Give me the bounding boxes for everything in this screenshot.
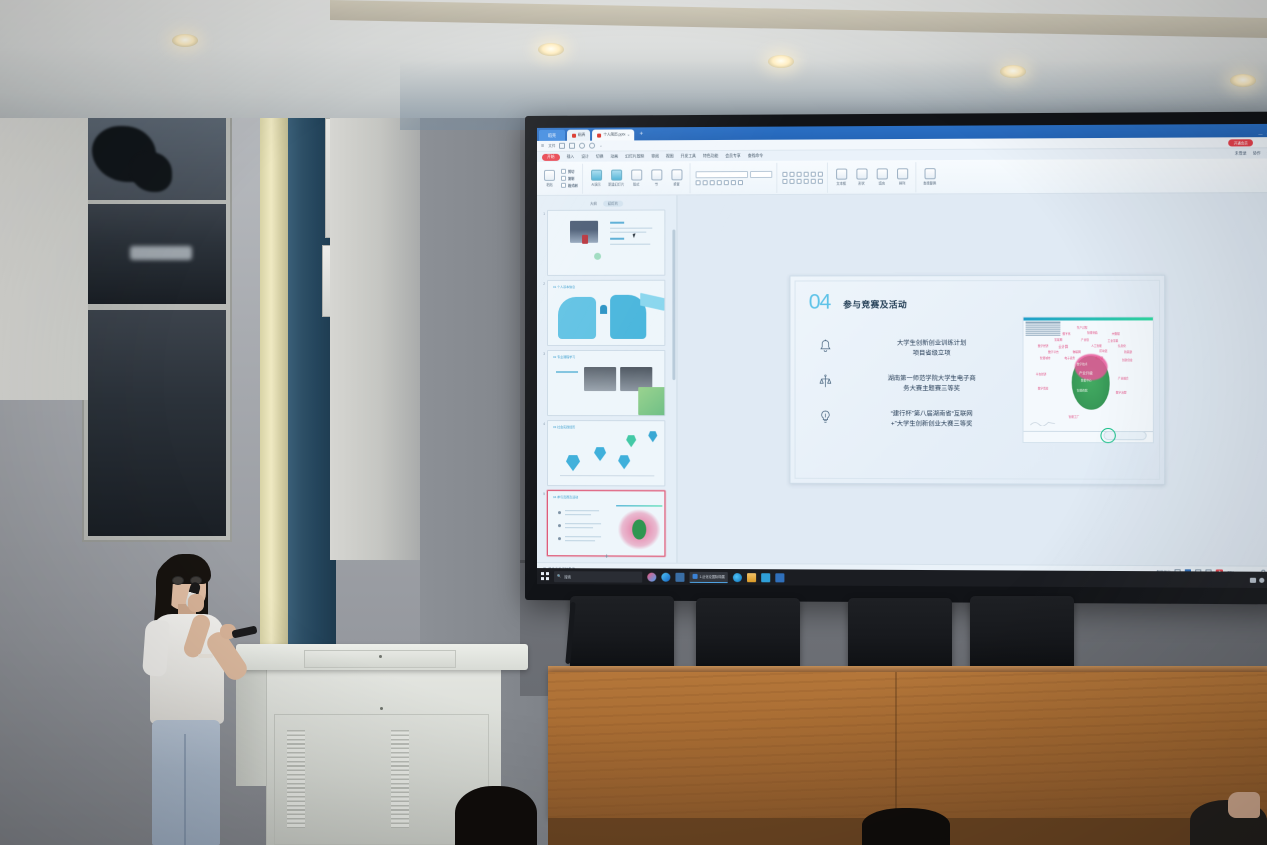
tab-label: 个人简历.pptx [603,132,625,137]
format-brush-icon [561,183,566,188]
button-label: 文本框 [836,181,846,186]
numbered-list-icon[interactable] [789,171,794,176]
slide-thumbnail-panel[interactable]: 大纲 幻灯片 1 [537,195,677,562]
chevron-down-icon[interactable]: ⌄ [600,144,603,148]
shape-button[interactable]: 形状 [853,168,870,185]
button-label: 查找替换 [923,180,936,185]
wordcloud-word: 数字治理 [1116,390,1127,394]
add-slide-button[interactable]: + [537,553,676,561]
wordcloud-image[interactable]: 生产过程 数字化 智能制造 大数据 互联网 产业链 工业互联 数字经济 云计算 … [1023,316,1154,443]
ribbon-right-controls: 未登录 协作 分享 [1235,151,1267,156]
paragraph-controls [782,171,823,183]
thumbnail-row[interactable]: 3 02 专业课程学习 [537,348,676,418]
wall-display: 稻壳 稻壳 个人简历.pptx × + — ▫ ✕ [525,112,1267,605]
conference-chair [570,596,674,668]
button-label: 形状 [858,181,864,186]
arrange-button[interactable]: 排列 [894,168,911,185]
slide-canvas-area: 04 参与竞赛及活动 大 [677,193,1267,566]
ppt-file-icon [572,133,576,137]
ribbon-tab-start[interactable]: 开始 [542,153,560,160]
map-pin-icon [566,455,580,471]
thumb-title: 04 参与竞赛及活动 [553,495,578,499]
ceiling-light [1230,74,1256,87]
map-pin-icon [594,447,606,461]
slide-thumbnail-3[interactable]: 02 专业课程学习 [547,350,665,416]
windows-taskbar: 🔍 搜索 1.近化论国际特展 [537,568,1267,588]
ai-slide-button[interactable]: AI演示 [588,170,605,187]
thumbnail-number: 1 [540,210,545,216]
ceiling-light [768,55,794,68]
new-slide-icon [611,170,622,181]
wordcloud-word: 云计算 [1058,343,1068,348]
align-row [782,178,823,183]
ribbon-tab-developer[interactable]: 开发工具 [681,154,696,159]
head-shape-left [558,297,596,339]
wordcloud-word: 数字贸易 [1038,386,1049,390]
wordcloud-word: 新基建 [1124,349,1132,353]
edge-icon[interactable] [733,573,742,582]
find-replace-button[interactable]: 查找替换 [921,168,938,185]
slide-thumbnail-5-selected[interactable]: 04 参与竞赛及活动 [547,490,665,557]
find-replace-icon [924,168,935,179]
tab-label: 稻壳 [578,133,585,138]
bullet-line: 务大赛主题赛三等奖 [841,384,1022,394]
conference-chair [696,598,800,670]
ribbon-group-editing: 查找替换 [921,162,942,192]
ceiling-light [172,34,198,47]
textbox-button[interactable]: 文本框 [833,169,850,186]
bullet-text: 大学生创新创业训练计划 项目省级立项 [841,338,1022,358]
align-vertical-icon[interactable] [817,178,822,183]
wordcloud-word: 平台经济 [1036,372,1047,376]
section-icon [651,169,662,180]
bullet-line: 湖南第一师范学院大学生电子商 [841,374,1022,384]
ribbon-tab-review[interactable]: 审阅 [651,154,659,159]
thumbnail-number: 3 [540,350,545,356]
current-slide[interactable]: 04 参与竞赛及活动 大 [789,274,1165,484]
wordcloud-word: 数字经济 [1038,343,1049,347]
bullet-line: +”大学生创新创业大赛三等奖 [841,419,1022,429]
minimize-icon[interactable]: — [1258,131,1262,136]
file-menu-label[interactable]: 文件 [548,143,555,148]
ribbon-tab-slideshow[interactable]: 幻灯片放映 [625,154,644,159]
window-title: 1.近化论国际特展 [700,574,725,579]
window-left [82,112,232,542]
wooden-desk [548,672,1267,822]
tree-silhouette [130,152,172,192]
audience-hand [1228,792,1260,818]
wordcloud-word: 数据中心 [1081,378,1092,382]
slide-thumbnail-1[interactable] [547,210,665,276]
scale-icon [819,374,832,389]
document-tab-home[interactable]: 稻壳 [567,130,590,141]
photo-thumb [638,387,665,415]
display-screen: 稻壳 稻壳 个人简历.pptx × + — ▫ ✕ [537,124,1267,588]
indent-increase-icon[interactable] [803,171,808,176]
highlight-circle-annotation [1100,427,1115,442]
wordcloud-word: 智慧城市 [1040,355,1051,359]
fill-icon [876,168,887,179]
thumb-title: 02 专业课程学习 [553,355,575,359]
ribbon-tab-animation[interactable]: 动画 [610,154,618,159]
layout-icon [631,169,642,180]
font-style-row [695,179,772,184]
taskbar-search-input[interactable]: 🔍 搜索 [554,571,642,582]
ceiling-beam [330,0,1267,38]
redo-icon[interactable] [589,143,595,149]
start-button-icon[interactable] [541,572,549,580]
align-right-icon[interactable] [796,178,801,183]
file-explorer-icon[interactable] [775,573,784,582]
ribbon-toolbar: 粘贴 剪切 复制 格式刷 AI演示 [537,158,1267,196]
bullet-list-icon[interactable] [782,171,787,176]
editor-body: 大纲 幻灯片 1 [537,193,1267,566]
textbox-icon [836,169,847,180]
thumbnail-number: 4 [540,420,545,426]
bullet-item[interactable]: “建行杯”第八届湖南省“互联网 +”大学生创新创业大赛三等奖 [819,409,1023,429]
button-label: 复制 [568,176,574,181]
wordcloud-core [632,519,646,539]
bullet-list: 大学生创新创业训练计划 项目省级立项 [819,338,1023,444]
wordcloud-word: 大数据 [1112,331,1120,335]
ribbon-tab-transition[interactable]: 切换 [596,154,604,159]
app-icon-colorful[interactable] [647,572,656,581]
button-label: AI演示 [591,182,600,187]
wordcloud-signature [1030,419,1057,425]
wordcloud-word: 产业链 [1081,337,1089,341]
bullet-line: “建行杯”第八届湖南省“互联网 [841,409,1022,419]
wordcloud-word: 数字化 [1062,331,1070,335]
ribbon-search[interactable]: 查找命令 [748,153,763,158]
thumbnail-number: 2 [540,280,545,286]
slides-tab[interactable]: 幻灯片 [603,200,623,206]
ceiling-light [1000,65,1026,78]
button-label: 排列 [899,180,905,185]
window-pane-bottom [88,310,226,536]
audience-head [455,786,537,845]
thumbnail-number: 5 [540,490,545,496]
photo-thumb [584,367,616,391]
folder-icon[interactable] [747,573,756,582]
wordcloud-word: 生产过程 [1077,325,1088,329]
wps-window-icon [693,574,698,579]
wordcloud-word: 区块链 [1099,348,1107,352]
save-icon[interactable] [559,143,565,149]
ribbon-tab-member[interactable]: 会员专享 [725,153,740,158]
bullet-text: “建行杯”第八届湖南省“互联网 +”大学生创新创业大赛三等奖 [841,409,1022,429]
presenter [128,552,280,845]
wordcloud-word: 产业升级 [1079,370,1093,375]
map-pin-icon [626,435,636,447]
thumb-title: 03 社会实践经历 [553,425,575,429]
wordcloud-header-bar [1024,317,1153,320]
button-label: 剪切 [568,169,574,174]
align-left-icon[interactable] [782,178,787,183]
wordcloud-word: 工业互联 [1108,338,1119,342]
indent-decrease-icon[interactable] [796,171,801,176]
slide-section-number: 04 [809,290,831,314]
text-direction-icon[interactable] [817,171,822,176]
wordcloud-word: 产业融合 [1118,376,1129,380]
bullet-item[interactable]: 大学生创新创业训练计划 项目省级立项 [819,338,1023,358]
ppt-file-icon [597,133,601,137]
app-icon-explorer[interactable] [675,572,684,581]
slide-thumbnail-2[interactable]: 01 个人基本信息 [547,280,665,346]
underline-icon[interactable] [709,180,714,185]
store-icon[interactable] [761,573,770,582]
jeans [152,720,220,845]
close-icon[interactable]: × [628,133,630,137]
ribbon-group-paragraph [782,162,828,192]
thumb-title: 01 个人基本信息 [553,285,575,289]
window-pane-top [88,118,226,200]
panel-header: 大纲 幻灯片 [537,198,676,208]
account-label[interactable]: 未登录 [1235,151,1247,156]
paste-button[interactable]: 粘贴 [541,170,558,187]
menu-icon[interactable]: ☰ [541,144,544,148]
scissors-icon [561,169,566,174]
map-pin-icon [618,455,630,469]
wordcloud-word: 智能工厂 [1069,414,1080,418]
ribbon-tab-insert[interactable]: 插入 [567,154,575,159]
bullet-text: 湖南第一师范学院大学生电子商 务大赛主题赛三等奖 [841,374,1022,394]
rocket-icon [600,305,607,314]
vip-upgrade-button[interactable]: 开通会员 [1229,139,1253,146]
volume-icon[interactable] [1259,577,1264,582]
taskbar-window-button[interactable]: 1.近化论国际特展 [690,571,728,582]
copy-button[interactable]: 复制 [561,176,578,181]
window-reflection [130,246,192,260]
list-row [782,171,823,176]
lecture-hall-scene: 稻壳 稻壳 个人简历.pptx × + — ▫ ✕ [0,0,1267,845]
slide-thumbnail-4[interactable]: 03 社会实践经历 [547,420,665,486]
bullet-line: 项目省级立项 [841,348,1022,358]
button-label: 节 [655,181,658,186]
fill-button[interactable]: 填充 [873,168,890,185]
search-icon: 🔍 [557,574,561,578]
wordcloud-word: 数字平台 [1048,349,1059,353]
wps-presentation-app: 稻壳 稻壳 个人简历.pptx × + — ▫ ✕ [537,124,1267,588]
outline-tab[interactable]: 大纲 [590,201,597,206]
thumbnail-row[interactable]: 4 03 社会实践经历 [537,418,676,488]
window-pane-middle [88,204,226,304]
highlight-icon[interactable] [730,180,735,185]
collaborate-label[interactable]: 协作 [1253,151,1261,156]
font-size-select[interactable] [750,170,772,177]
tabbar-controls: — ▫ ✕ [1258,131,1267,137]
section-button[interactable]: 节 [648,169,665,186]
ceiling-light [538,43,564,56]
map-pin-icon [648,431,657,442]
reset-icon [671,169,682,180]
new-tab-button[interactable]: + [635,131,649,137]
ribbon-group-font [695,162,777,193]
thumbnail-row[interactable]: 5 04 参与竞赛及活动 [537,488,676,559]
clear-format-icon[interactable] [737,180,742,185]
wordcloud-word: 创新创业 [1122,357,1133,361]
undo-icon[interactable] [579,143,585,149]
ai-slide-icon [591,170,602,181]
button-label: 粘贴 [546,182,552,187]
wordcloud-word: 数字技术 [1077,362,1088,366]
reset-button[interactable]: 重置 [668,169,685,186]
hand-holding-microphone [188,594,204,612]
print-icon[interactable] [569,143,575,149]
ribbon-tab-view[interactable]: 视图 [666,154,674,159]
wordcloud-word: 互联网 [1054,337,1062,341]
format-brush-button[interactable]: 格式刷 [561,183,578,188]
panel-scrollbar[interactable] [672,230,675,381]
bell-icon [819,338,832,353]
search-placeholder: 搜索 [564,574,571,579]
ribbon-tab-features[interactable]: 特色功能 [703,154,718,159]
app-icon-blue[interactable] [661,572,670,581]
document-tab-active[interactable]: 个人简历.pptx × [592,129,634,140]
thumbnail-row[interactable]: 1 [537,207,676,278]
new-slide-button[interactable]: 新建幻灯片 [608,170,625,187]
bullet-line: 大学生创新创业训练计划 [841,338,1022,348]
left-sleeve [142,619,170,677]
taskbar-tray: 20:42 [1250,577,1267,582]
button-label: 格式刷 [568,183,578,188]
wordcloud-word: 人工智能 [1091,343,1102,347]
wordcloud-word: 信息化 [1118,343,1126,347]
accent-circle [594,253,601,260]
italic-icon[interactable] [702,180,707,185]
line-spacing-icon[interactable] [810,171,815,176]
ribbon-group-clipboard: 粘贴 剪切 复制 格式刷 [541,163,583,193]
lightbulb-icon [819,409,832,424]
wordcloud-word: 电子商务 [1065,355,1076,359]
copy-icon [561,176,566,181]
tie-shape [582,235,588,244]
bullet-item[interactable]: 湖南第一师范学院大学生电子商 务大赛主题赛三等奖 [819,374,1023,394]
button-label: 重置 [673,181,679,186]
arrange-icon [897,168,908,179]
wordcloud-word: 智能制造 [1087,330,1098,334]
slide-title: 参与竞赛及活动 [843,298,907,310]
button-label: 填充 [879,180,885,185]
shape-icon [856,168,867,179]
align-center-icon[interactable] [789,178,794,183]
ribbon-group-drawing: 文本框 形状 填充 排列 [833,162,916,193]
conference-chair [970,596,1074,668]
thumbnail-row[interactable]: 2 01 个人基本信息 [537,278,676,348]
align-justify-icon[interactable] [803,178,808,183]
paste-icon [544,170,555,181]
wordcloud-word: 物联网 [1073,349,1081,353]
button-label: 版式 [633,182,639,187]
font-name-select[interactable] [695,171,747,178]
bracelet [198,654,213,658]
wps-logo[interactable]: 稻壳 [539,130,565,141]
layout-button[interactable]: 版式 [628,169,645,186]
audience-head [862,808,950,845]
ribbon-group-slides: AI演示 新建幻灯片 版式 节 [588,163,690,194]
font-controls [695,170,772,184]
wordcloud-word: 供应链 [1095,355,1103,359]
button-label: 新建幻灯片 [608,182,624,187]
font-name-row [695,170,772,177]
desk-panel-seam [895,672,897,822]
conference-chair [848,598,952,670]
cut-button[interactable]: 剪切 [561,169,578,174]
strikethrough-icon[interactable] [716,180,721,185]
podium-drawer [304,650,456,668]
font-color-icon[interactable] [723,180,728,185]
clipboard-minor-buttons: 剪切 复制 格式刷 [561,169,578,188]
vip-label: 开通会员 [1234,141,1248,145]
bold-icon[interactable] [695,180,700,185]
wordcloud-word: 智能终端 [1077,388,1088,392]
columns-icon[interactable] [810,178,815,183]
network-icon[interactable] [1250,577,1256,582]
wordcloud-meta-lines [1026,321,1061,337]
ribbon-tab-design[interactable]: 设计 [581,154,589,159]
